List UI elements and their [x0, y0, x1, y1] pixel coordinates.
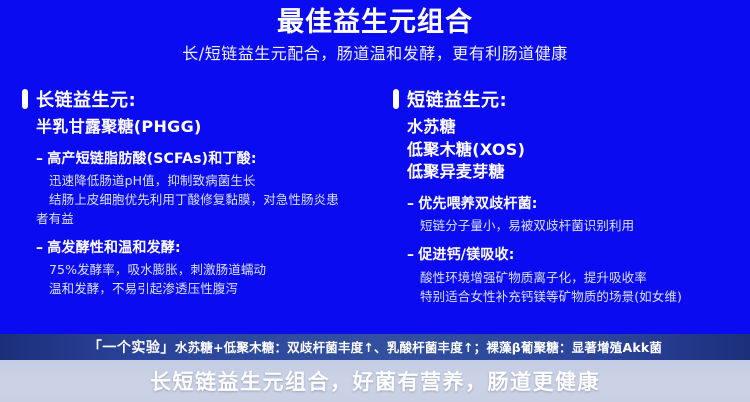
- section-title-label: 高发酵性和温和发酵:: [47, 240, 181, 256]
- section-line: 特别适合女性补充钙镁等矿物质的场景(如女维): [420, 287, 742, 306]
- header: 最佳益生元组合 长/短链益生元配合，肠道温和发酵，更有利肠道健康: [0, 0, 750, 65]
- section-body: 短链分子量小，易被双歧杆菌识别利用: [407, 216, 742, 235]
- column-short-chain: 短链益生元: 水苏糖 低聚木糖(XOS) 低聚异麦芽糖 –优先喂养双歧杆菌: 短…: [375, 86, 750, 306]
- experiment-strip-content: 「一个实验」水苏糖+低聚木糖：双歧杆菌丰度↑、乳酸杆菌丰度↑；裸藻β葡聚糖：显著…: [88, 337, 662, 357]
- section-title-label: 高产短链脂肪酸(SCFAs)和丁酸:: [47, 151, 256, 167]
- short-chain-section-1: –优先喂养双歧杆菌: 短链分子量小，易被双歧杆菌识别利用: [393, 195, 742, 235]
- experiment-tag-label: 「一个实验」: [88, 340, 175, 356]
- column-long-chain: 长链益生元: 半乳甘露聚糖(PHGG) –高产短链脂肪酸(SCFAs)和丁酸: …: [0, 86, 375, 306]
- page-title: 最佳益生元组合: [0, 6, 750, 40]
- list-item: 水苏糖: [407, 116, 742, 139]
- long-chain-section-2: –高发酵性和温和发酵: 75%发酵率，吸水膨胀，刺激肠道蠕动 温和发酵，不易引起…: [22, 239, 367, 298]
- section-title-label: 优先喂养双歧杆菌:: [418, 196, 537, 212]
- section-title: –高产短链脂肪酸(SCFAs)和丁酸:: [36, 150, 367, 168]
- long-chain-ingredient-list: 半乳甘露聚糖(PHGG): [22, 116, 367, 139]
- section-line: 者有益: [36, 209, 367, 228]
- section-title: –高发酵性和温和发酵:: [36, 239, 367, 257]
- section-title: –优先喂养双歧杆菌:: [407, 195, 742, 213]
- dash-icon: –: [36, 240, 43, 256]
- section-body: 75%发酵率，吸水膨胀，刺激肠道蠕动 温和发酵，不易引起渗透压性腹泻: [36, 260, 367, 298]
- long-chain-section-1: –高产短链脂肪酸(SCFAs)和丁酸: 迅速降低肠道pH值，抑制致病菌生长 结肠…: [22, 150, 367, 228]
- list-item: 低聚木糖(XOS): [407, 139, 742, 162]
- slide-root: 最佳益生元组合 长/短链益生元配合，肠道温和发酵，更有利肠道健康 长链益生元: …: [0, 0, 750, 402]
- column-short-chain-header: 短链益生元:: [393, 86, 742, 112]
- accent-bar-icon: [22, 89, 28, 109]
- content-columns: 长链益生元: 半乳甘露聚糖(PHGG) –高产短链脂肪酸(SCFAs)和丁酸: …: [0, 86, 750, 306]
- accent-bar-icon: [393, 89, 399, 109]
- section-line: 迅速降低肠道pH值，抑制致病菌生长: [49, 171, 367, 190]
- column-long-chain-header: 长链益生元:: [22, 86, 367, 112]
- list-item: 低聚异麦芽糖: [407, 161, 742, 184]
- short-chain-section-2: –促进钙/镁吸收: 酸性环境增强矿物质离子化，提升吸收率 特别适合女性补充钙镁等…: [393, 246, 742, 305]
- footer-text: 长短链益生元组合，好菌有营养，肠道更健康: [150, 366, 600, 396]
- section-line: 75%发酵率，吸水膨胀，刺激肠道蠕动: [49, 260, 367, 279]
- section-line: 温和发酵，不易引起渗透压性腹泻: [49, 279, 367, 298]
- section-line: 结肠上皮细胞优先利用丁酸修复黏膜，对急性肠炎患: [49, 190, 367, 209]
- page-subtitle: 长/短链益生元配合，肠道温和发酵，更有利肠道健康: [0, 44, 750, 65]
- footer-banner: 长短链益生元组合，好菌有营养，肠道更健康: [0, 360, 750, 402]
- section-body: 迅速降低肠道pH值，抑制致病菌生长 结肠上皮细胞优先利用丁酸修复黏膜，对急性肠炎…: [36, 171, 367, 228]
- section-line: 短链分子量小，易被双歧杆菌识别利用: [420, 216, 742, 235]
- short-chain-ingredient-list: 水苏糖 低聚木糖(XOS) 低聚异麦芽糖: [393, 116, 742, 184]
- column-long-chain-title: 长链益生元:: [36, 86, 136, 112]
- section-title-label: 促进钙/镁吸收:: [418, 247, 514, 263]
- column-short-chain-title: 短链益生元:: [407, 86, 507, 112]
- dash-icon: –: [407, 196, 414, 212]
- experiment-text: 水苏糖+低聚木糖：双歧杆菌丰度↑、乳酸杆菌丰度↑；裸藻β葡聚糖：显著增殖Akk菌: [175, 340, 662, 355]
- section-line: 酸性环境增强矿物质离子化，提升吸收率: [420, 268, 742, 287]
- list-item: 半乳甘露聚糖(PHGG): [36, 116, 367, 139]
- section-title: –促进钙/镁吸收:: [407, 246, 742, 264]
- dash-icon: –: [407, 247, 414, 263]
- dash-icon: –: [36, 151, 43, 167]
- experiment-strip: 「一个实验」水苏糖+低聚木糖：双歧杆菌丰度↑、乳酸杆菌丰度↑；裸藻β葡聚糖：显著…: [0, 334, 750, 360]
- section-body: 酸性环境增强矿物质离子化，提升吸收率 特别适合女性补充钙镁等矿物质的场景(如女维…: [407, 268, 742, 306]
